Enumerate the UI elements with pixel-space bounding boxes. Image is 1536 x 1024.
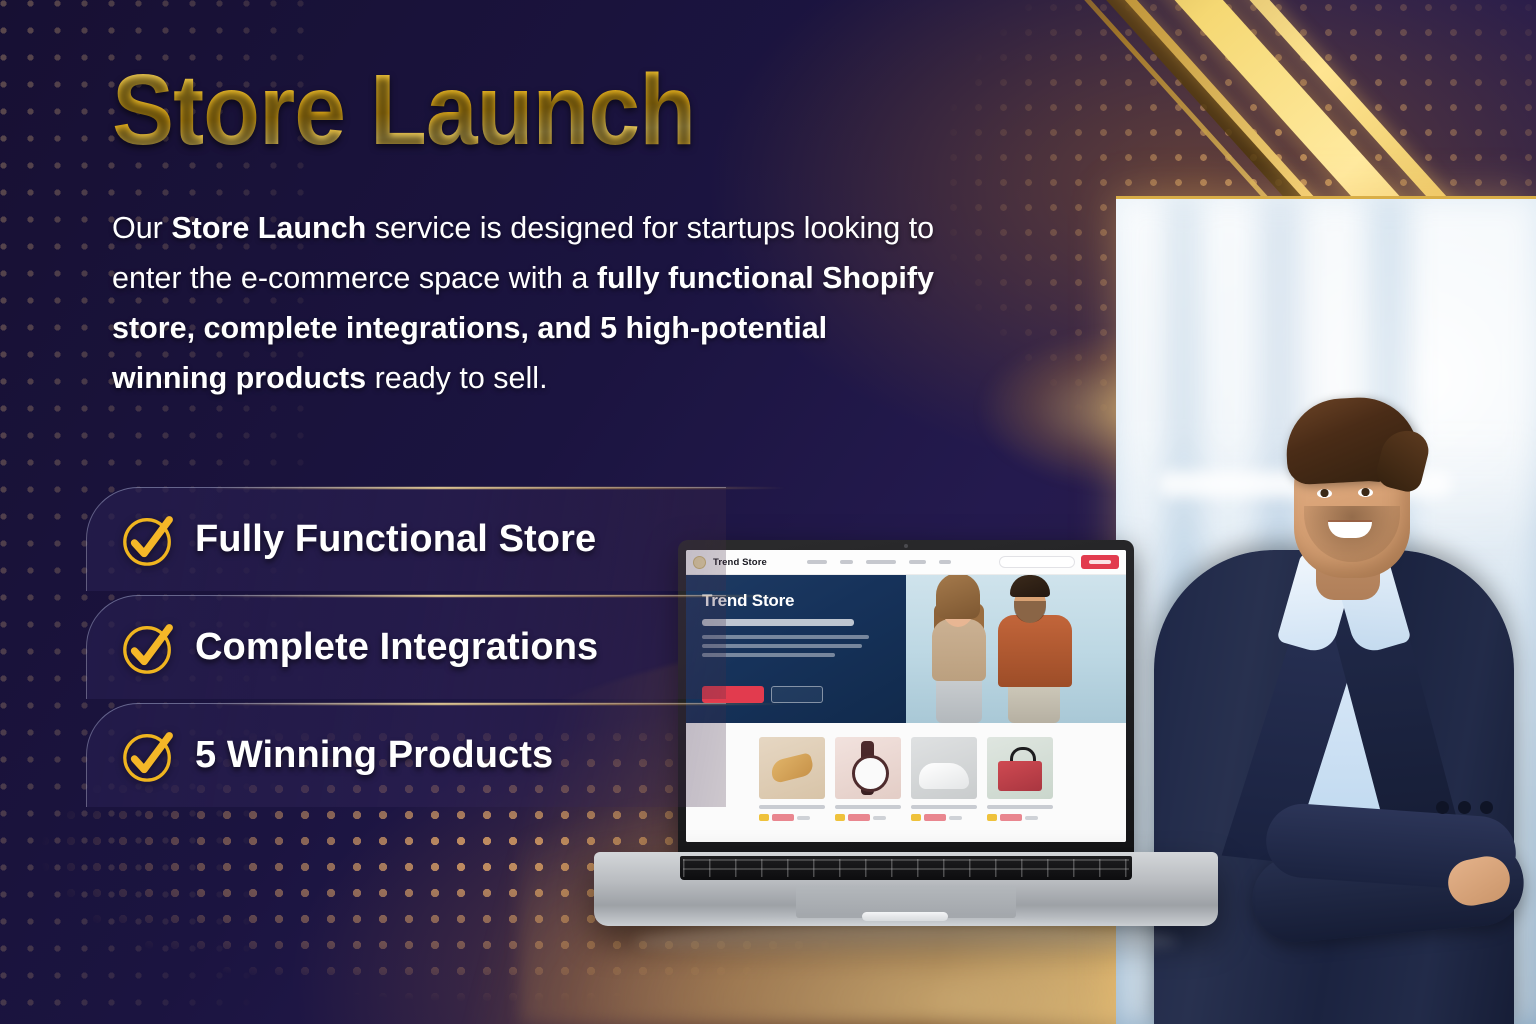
site-cta-button[interactable]: [1081, 555, 1119, 569]
site-nav-links[interactable]: [807, 560, 951, 564]
nav-link-1[interactable]: [807, 560, 827, 564]
product-grid: [686, 723, 1126, 842]
feature-item-5-winning-products[interactable]: 5 Winning Products: [86, 703, 726, 807]
sleeve-buttons: [1436, 801, 1449, 814]
store-launch-banner: Trend Store Trend Store: [0, 0, 1536, 1024]
hero-body-text: [702, 635, 892, 657]
model-woman-trousers: [936, 677, 982, 723]
laptop-front-notch: [862, 912, 948, 921]
model-man-hair: [1010, 575, 1050, 597]
site-navbar: Trend Store: [686, 550, 1126, 575]
hero-title: Trend Store: [702, 591, 892, 611]
laptop-screen: Trend Store Trend Store: [686, 550, 1126, 842]
product-image-watch: [835, 737, 901, 799]
price-old: [949, 816, 962, 820]
para-seg-4: ready to sell.: [366, 361, 547, 395]
model-man-trousers: [1008, 681, 1060, 723]
eye-right: [1358, 488, 1373, 497]
price-badge: [772, 814, 794, 821]
site-search-input[interactable]: [999, 556, 1075, 568]
feature-list: Fully Functional Store Complete Integrat…: [86, 487, 726, 807]
laptop-keyboard: [680, 856, 1132, 880]
product-price-row: [759, 814, 825, 821]
check-circle-icon: [119, 511, 177, 569]
rating-icon: [987, 814, 997, 821]
hero-secondary-button[interactable]: [771, 686, 823, 703]
product-price-row: [835, 814, 901, 821]
product-name: [987, 805, 1053, 809]
rating-icon: [759, 814, 769, 821]
model-woman-sweater: [932, 619, 986, 681]
product-name: [759, 805, 825, 809]
price-badge: [848, 814, 870, 821]
product-card[interactable]: [911, 737, 977, 821]
product-card[interactable]: [987, 737, 1053, 821]
check-circle-icon: [119, 619, 177, 677]
product-image-sandals: [759, 737, 825, 799]
price-old: [873, 816, 886, 820]
laptop-base: [594, 852, 1218, 926]
rating-icon: [835, 814, 845, 821]
para-seg-0: Our: [112, 211, 171, 245]
product-name: [835, 805, 901, 809]
check-circle-icon: [119, 727, 177, 785]
product-card[interactable]: [759, 737, 825, 821]
feature-label: Fully Functional Store: [195, 518, 596, 561]
feature-item-complete-integrations[interactable]: Complete Integrations: [86, 595, 726, 699]
laptop-lid: Trend Store Trend Store: [678, 540, 1134, 856]
desk-reflection: [634, 924, 1178, 960]
feature-item-fully-functional-store[interactable]: Fully Functional Store: [86, 487, 726, 591]
nav-link-3[interactable]: [866, 560, 896, 564]
hero-body-line-1: [702, 635, 869, 639]
page-title: Store Launch: [112, 60, 695, 160]
webcam-icon: [904, 544, 908, 548]
description-paragraph: Our Store Launch service is designed for…: [112, 203, 942, 403]
site-cta-label: [1089, 560, 1111, 564]
site-hero: Trend Store: [686, 575, 1126, 723]
nav-link-4[interactable]: [909, 560, 926, 564]
model-man-jacket: [998, 615, 1072, 687]
price-badge: [924, 814, 946, 821]
product-image-sneakers: [911, 737, 977, 799]
product-row: [702, 737, 1110, 821]
price-old: [797, 816, 810, 820]
product-image-handbag: [987, 737, 1053, 799]
para-seg-1: Store Launch: [171, 211, 366, 245]
product-name: [911, 805, 977, 809]
nav-link-2[interactable]: [840, 560, 853, 564]
nav-link-5[interactable]: [939, 560, 951, 564]
feature-label: 5 Winning Products: [195, 734, 553, 777]
rating-icon: [911, 814, 921, 821]
model-woman-hair: [936, 575, 980, 619]
eye-left: [1317, 489, 1332, 498]
product-price-row: [987, 814, 1053, 821]
feature-label: Complete Integrations: [195, 626, 598, 669]
price-badge: [1000, 814, 1022, 821]
product-price-row: [911, 814, 977, 821]
price-old: [1025, 816, 1038, 820]
hero-image: [906, 575, 1126, 723]
product-card[interactable]: [835, 737, 901, 821]
